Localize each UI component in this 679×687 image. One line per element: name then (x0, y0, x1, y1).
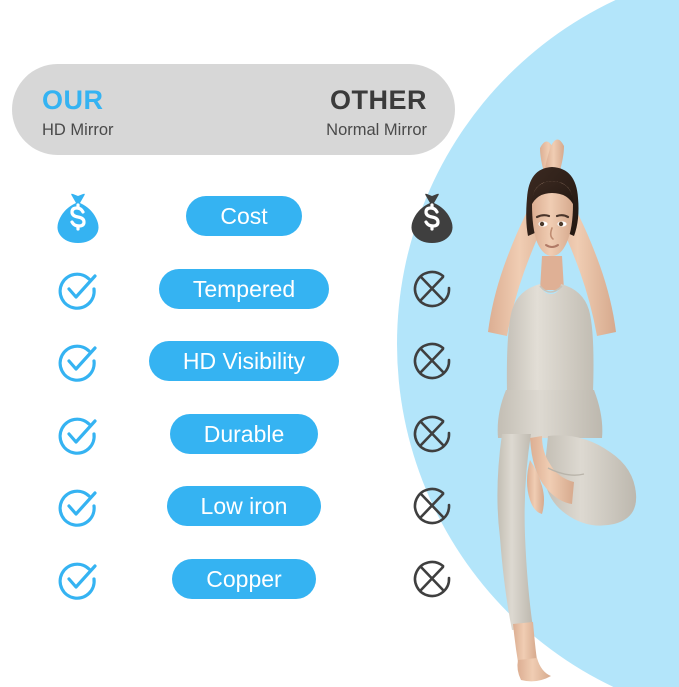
our-subtitle: HD Mirror (42, 122, 212, 139)
x-circle-icon (410, 412, 454, 456)
feature-label-cell: Cost (106, 190, 382, 242)
header-our-column: OUR HD Mirror (42, 64, 212, 155)
feature-label-cell: HD Visibility (106, 335, 382, 387)
feature-label-cell: Copper (106, 553, 382, 605)
other-status-cell (404, 480, 460, 532)
feature-pill: Cost (186, 196, 301, 236)
money-bag-icon (410, 193, 454, 239)
comparison-row: Low iron (0, 480, 460, 532)
feature-label-cell: Low iron (106, 480, 382, 532)
feature-pill: HD Visibility (149, 341, 339, 381)
header-comparison-bar: OUR HD Mirror OTHER Normal Mirror (12, 64, 455, 155)
check-circle-icon (56, 412, 100, 456)
our-status-cell (50, 263, 106, 315)
feature-pill: Tempered (159, 269, 329, 309)
yoga-model-photo (452, 138, 679, 687)
comparison-row: Durable (0, 408, 460, 460)
feature-pill: Durable (170, 414, 319, 454)
feature-pill: Copper (172, 559, 315, 599)
feature-pill: Low iron (167, 486, 322, 526)
money-bag-icon (56, 193, 100, 239)
check-circle-icon (56, 557, 100, 601)
other-status-cell (404, 190, 460, 242)
our-status-cell (50, 335, 106, 387)
feature-label-cell: Tempered (106, 263, 382, 315)
x-circle-icon (410, 339, 454, 383)
other-status-cell (404, 553, 460, 605)
feature-label-cell: Durable (106, 408, 382, 460)
other-subtitle: Normal Mirror (217, 122, 427, 139)
other-title: OTHER (217, 87, 427, 114)
check-circle-icon (56, 484, 100, 528)
x-circle-icon (410, 267, 454, 311)
comparison-infographic: OUR HD Mirror OTHER Normal Mirror Cost T… (0, 0, 679, 687)
our-status-cell (50, 408, 106, 460)
our-status-cell (50, 480, 106, 532)
x-circle-icon (410, 557, 454, 601)
comparison-row: Cost (0, 190, 460, 242)
other-status-cell (404, 408, 460, 460)
comparison-row: Copper (0, 553, 460, 605)
x-circle-icon (410, 484, 454, 528)
other-status-cell (404, 335, 460, 387)
check-circle-icon (56, 339, 100, 383)
our-status-cell (50, 190, 106, 242)
header-other-column: OTHER Normal Mirror (217, 64, 427, 155)
comparison-row: Tempered (0, 263, 460, 315)
check-circle-icon (56, 267, 100, 311)
our-status-cell (50, 553, 106, 605)
comparison-row: HD Visibility (0, 335, 460, 387)
other-status-cell (404, 263, 460, 315)
our-title: OUR (42, 87, 212, 114)
